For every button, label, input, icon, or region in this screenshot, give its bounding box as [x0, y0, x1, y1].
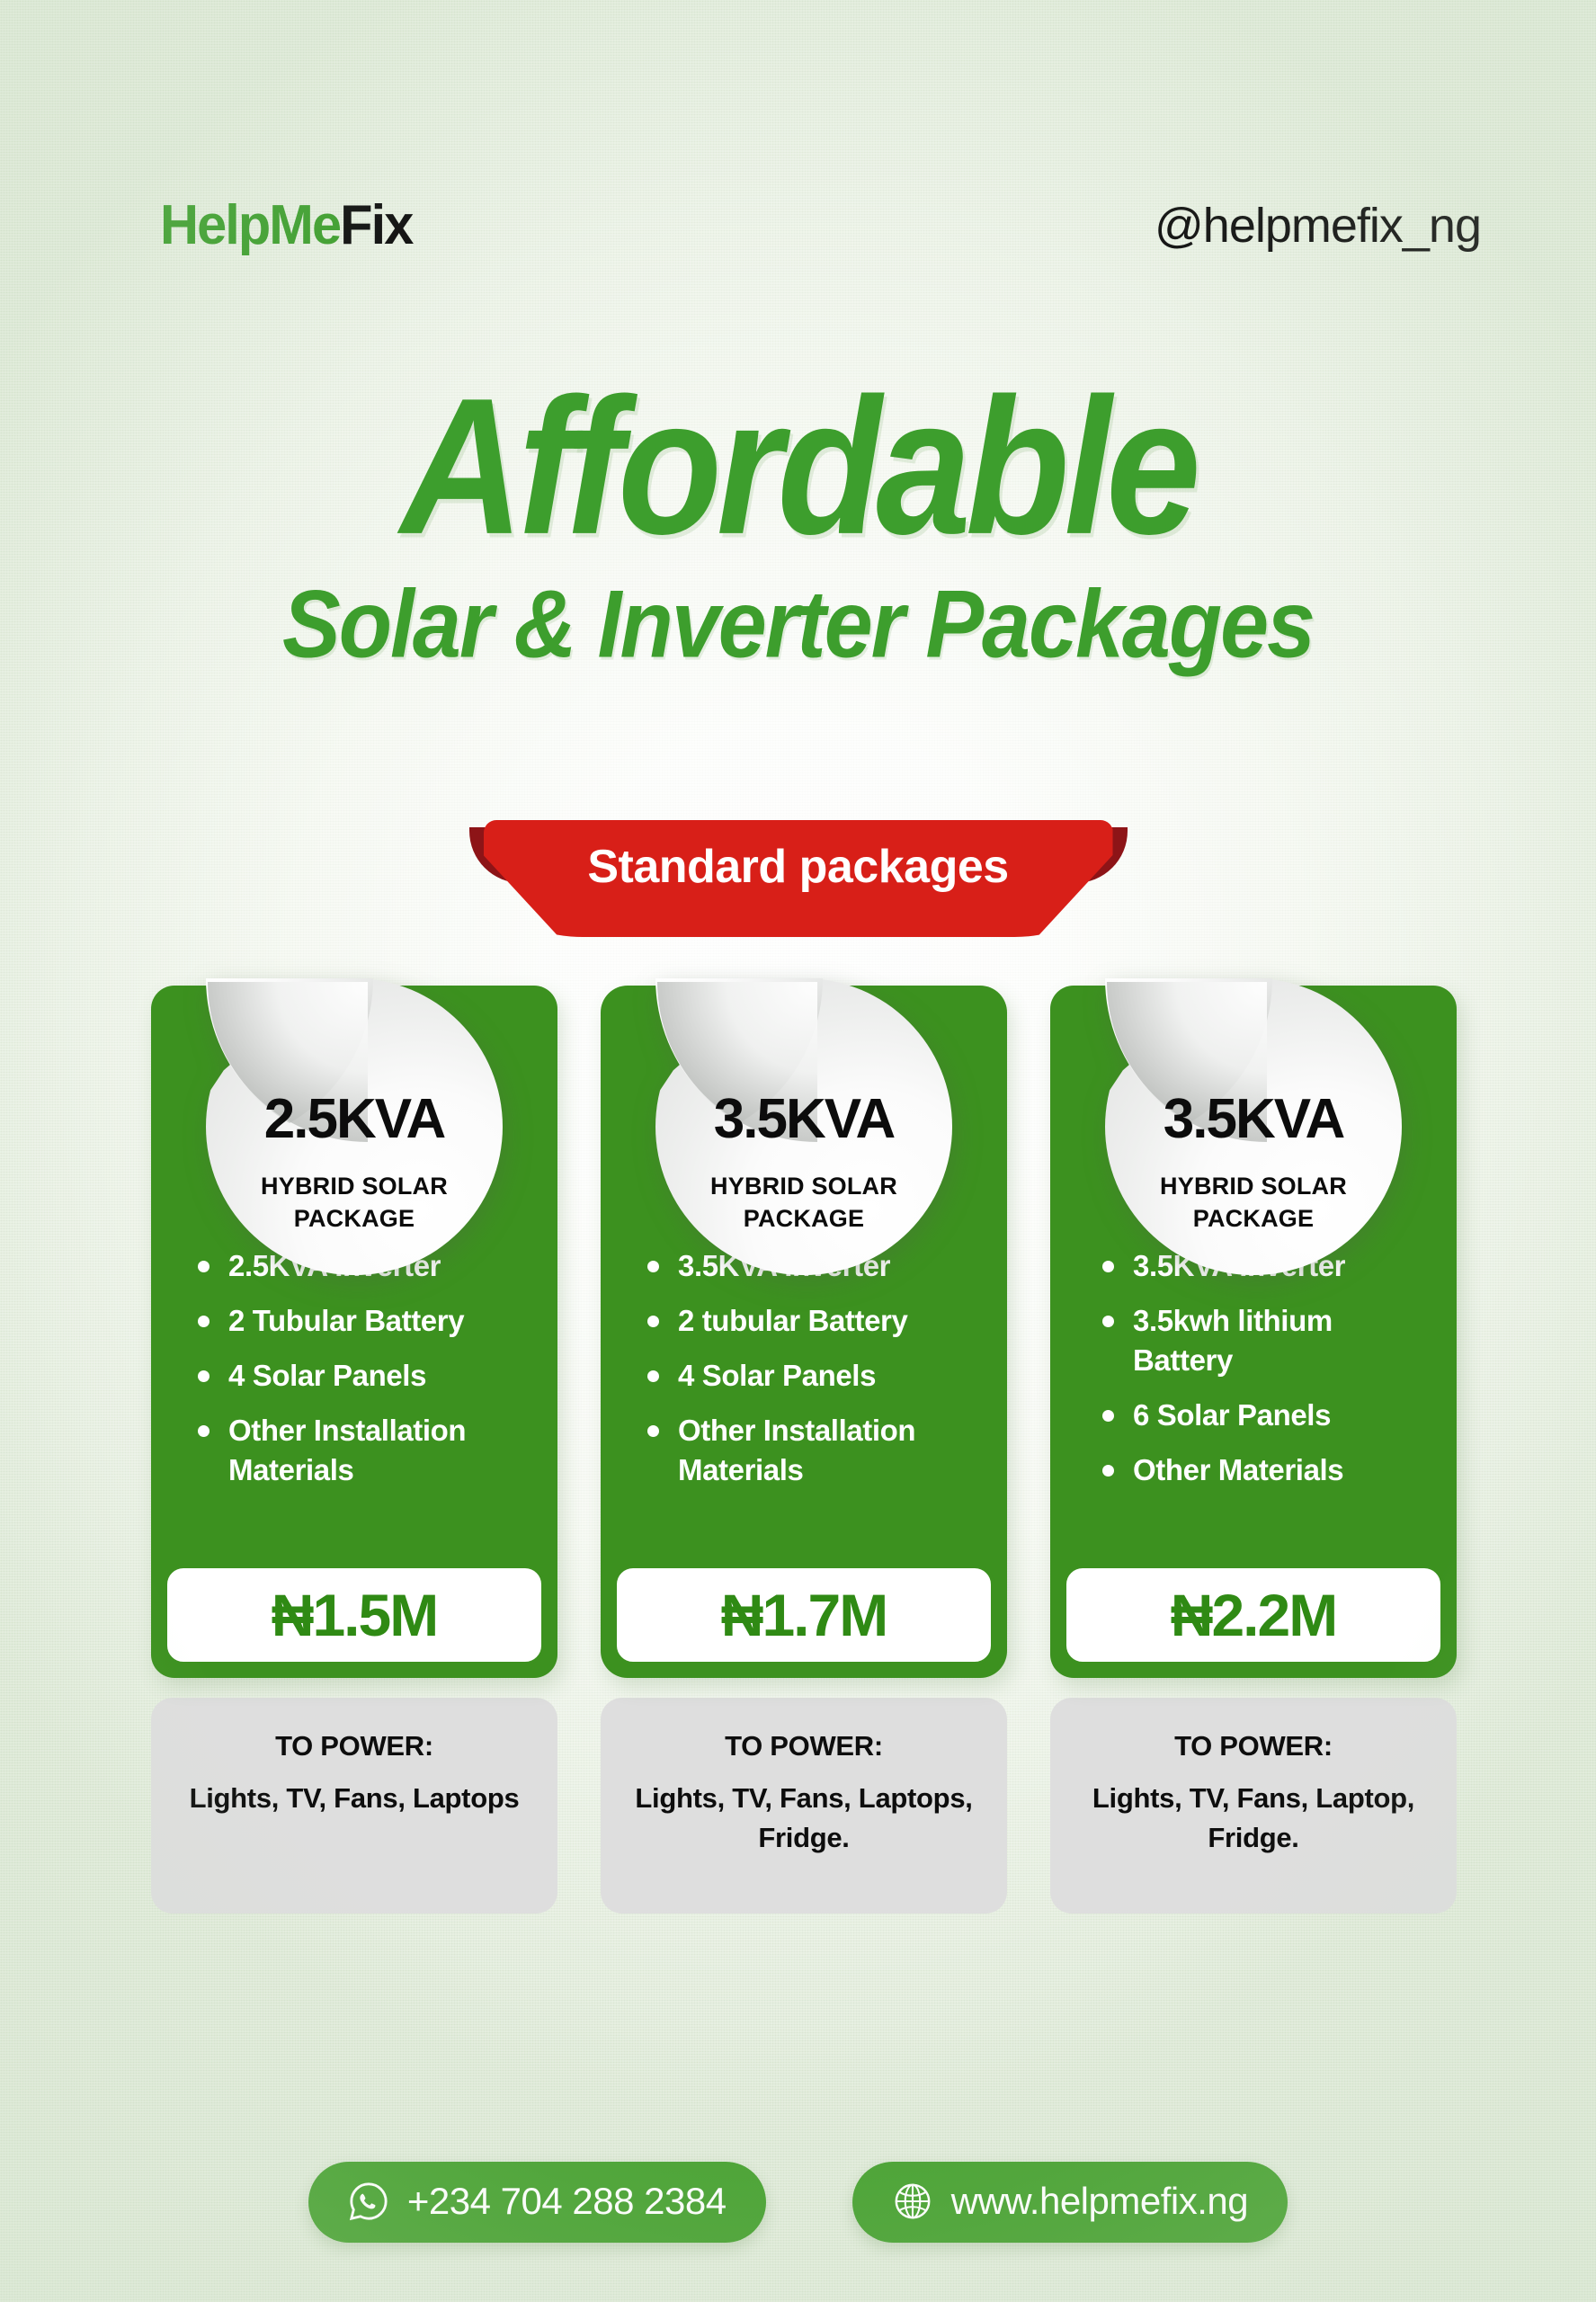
package-type-label: HYBRID SOLAR PACKAGE: [655, 1171, 952, 1235]
list-item: 2 tubular Battery: [647, 1301, 984, 1341]
list-item: 3.5kwh lithium Battery: [1102, 1301, 1433, 1380]
package-card[interactable]: 3.5KVA HYBRID SOLAR PACKAGE 3.5KVA Inver…: [601, 986, 1007, 1914]
ribbon-body: Standard packages: [484, 820, 1113, 937]
package-type-label: HYBRID SOLAR PACKAGE: [1105, 1171, 1402, 1235]
list-item: 4 Solar Panels: [647, 1356, 984, 1396]
social-handle: @helpmefix_ng: [1155, 198, 1481, 254]
package-kva-rating: 2.5KVA: [206, 1092, 503, 1147]
package-sticker-badge: 3.5KVA HYBRID SOLAR PACKAGE: [655, 978, 952, 1275]
website-url: www.helpmefix.ng: [951, 2180, 1248, 2223]
package-price-chip[interactable]: ₦2.2M: [1063, 1565, 1444, 1665]
package-card-body: 3.5KVA HYBRID SOLAR PACKAGE 3.5KVA Inver…: [1050, 986, 1457, 1678]
list-item: 2 Tubular Battery: [198, 1301, 534, 1341]
package-to-power-box: TO POWER: Lights, TV, Fans, Laptops, Fri…: [601, 1698, 1007, 1914]
ribbon-banner: Standard packages: [484, 820, 1113, 937]
package-kva-rating: 3.5KVA: [655, 1092, 952, 1147]
ribbon-label: Standard packages: [587, 840, 1008, 894]
sticker-text: 2.5KVA HYBRID SOLAR PACKAGE: [206, 1092, 503, 1235]
to-power-value: Lights, TV, Fans, Laptop, Fridge.: [1070, 1779, 1437, 1858]
ribbon-banner-wrap: Standard packages: [0, 820, 1596, 937]
package-price: ₦1.5M: [272, 1585, 437, 1645]
package-price: ₦2.2M: [1171, 1585, 1336, 1645]
list-item: Other Materials: [1102, 1450, 1433, 1490]
hero-section: Affordable Solar & Inverter Packages: [0, 378, 1596, 667]
to-power-title: TO POWER:: [620, 1730, 987, 1762]
package-feature-list: 3.5KVA Inverter 3.5kwh lithium Battery 6…: [1050, 1246, 1457, 1489]
sticker-text: 3.5KVA HYBRID SOLAR PACKAGE: [1105, 1092, 1402, 1235]
package-card[interactable]: 2.5KVA HYBRID SOLAR PACKAGE 2.5KVA Inver…: [151, 986, 557, 1914]
to-power-value: Lights, TV, Fans, Laptops, Fridge.: [620, 1779, 987, 1858]
package-sticker-badge: 3.5KVA HYBRID SOLAR PACKAGE: [1105, 978, 1402, 1275]
page-subtitle: Solar & Inverter Packages: [0, 575, 1596, 672]
package-type-label: HYBRID SOLAR PACKAGE: [206, 1171, 503, 1235]
website-contact-pill[interactable]: www.helpmefix.ng: [852, 2162, 1288, 2243]
to-power-title: TO POWER:: [171, 1730, 538, 1762]
package-feature-list: 3.5KVA Inverter 2 tubular Battery 4 Sola…: [601, 1246, 1007, 1489]
brand-logo-green-part: HelpMe: [160, 194, 340, 256]
package-to-power-box: TO POWER: Lights, TV, Fans, Laptops: [151, 1698, 557, 1914]
whatsapp-contact-pill[interactable]: +234 704 288 2384: [308, 2162, 766, 2243]
brand-logo: HelpMeFix: [160, 198, 412, 254]
page-title: Affordable: [0, 378, 1596, 558]
brand-logo-black-part: Fix: [340, 194, 412, 256]
package-card-body: 2.5KVA HYBRID SOLAR PACKAGE 2.5KVA Inver…: [151, 986, 557, 1678]
packages-grid: 2.5KVA HYBRID SOLAR PACKAGE 2.5KVA Inver…: [151, 986, 1457, 1914]
package-price: ₦1.7M: [721, 1585, 887, 1645]
package-feature-list: 2.5KVA Inverter 2 Tubular Battery 4 Sola…: [151, 1246, 557, 1489]
to-power-title: TO POWER:: [1070, 1730, 1437, 1762]
header-bar: HelpMeFix @helpmefix_ng: [0, 176, 1596, 275]
footer-contacts: +234 704 288 2384 www.helpmefix.ng: [0, 2162, 1596, 2243]
poster-canvas: HelpMeFix @helpmefix_ng Affordable Solar…: [0, 0, 1596, 2302]
whatsapp-icon: [348, 2181, 389, 2222]
package-card[interactable]: 3.5KVA HYBRID SOLAR PACKAGE 3.5KVA Inver…: [1050, 986, 1457, 1914]
list-item: 4 Solar Panels: [198, 1356, 534, 1396]
to-power-value: Lights, TV, Fans, Laptops: [171, 1779, 538, 1818]
package-price-chip[interactable]: ₦1.5M: [164, 1565, 545, 1665]
package-kva-rating: 3.5KVA: [1105, 1092, 1402, 1147]
package-price-chip[interactable]: ₦1.7M: [613, 1565, 994, 1665]
list-item: Other Installation Materials: [198, 1411, 534, 1490]
list-item: 6 Solar Panels: [1102, 1396, 1433, 1435]
sticker-text: 3.5KVA HYBRID SOLAR PACKAGE: [655, 1092, 952, 1235]
phone-number: +234 704 288 2384: [407, 2180, 727, 2223]
package-sticker-badge: 2.5KVA HYBRID SOLAR PACKAGE: [206, 978, 503, 1275]
package-to-power-box: TO POWER: Lights, TV, Fans, Laptop, Frid…: [1050, 1698, 1457, 1914]
list-item: Other Installation Materials: [647, 1411, 984, 1490]
globe-icon: [892, 2181, 933, 2222]
package-card-body: 3.5KVA HYBRID SOLAR PACKAGE 3.5KVA Inver…: [601, 986, 1007, 1678]
